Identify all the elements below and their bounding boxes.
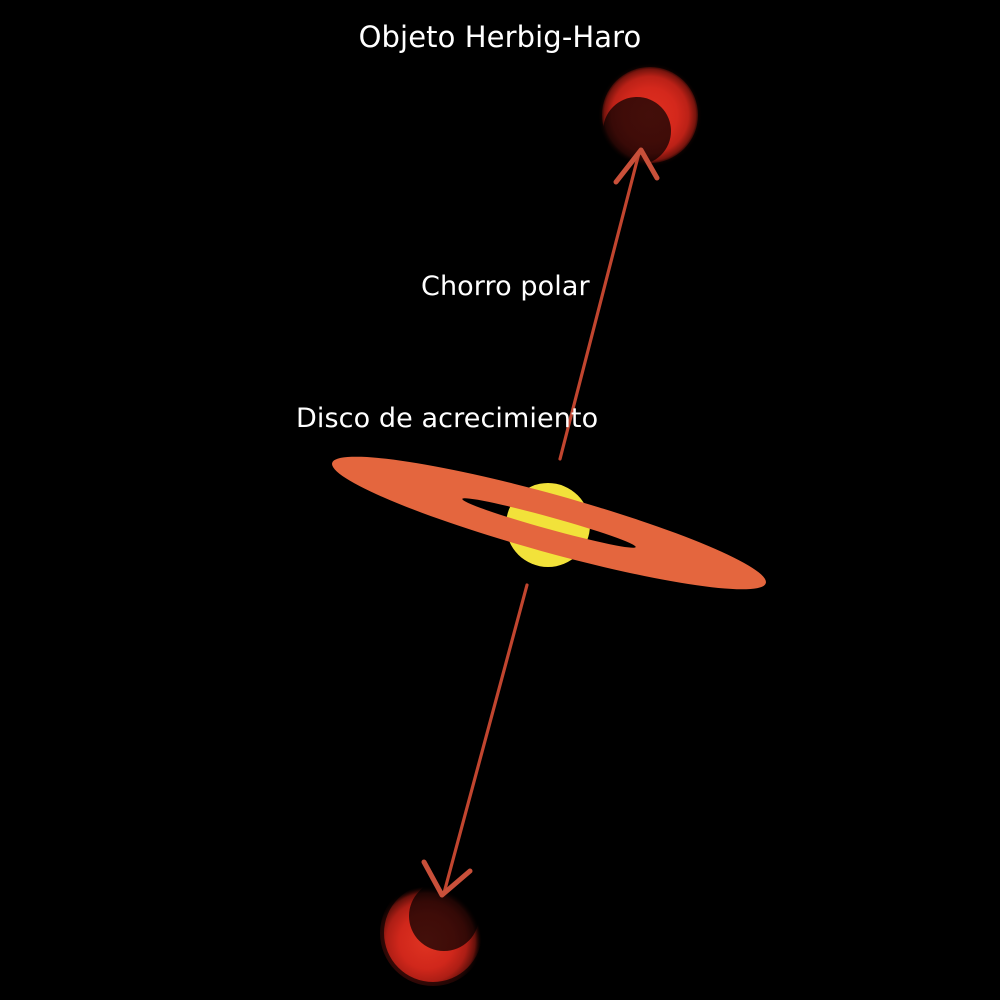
herbig-haro-object-upper: [598, 63, 702, 167]
diagram-canvas: Objeto Herbig-Haro Chorro polar Disco de…: [0, 0, 1000, 1000]
polar-jet-lower: [424, 585, 527, 895]
page-title: Objeto Herbig-Haro: [0, 20, 1000, 54]
polar-jet-label: Chorro polar: [421, 271, 590, 302]
accretion-disk: [300, 430, 800, 620]
shock-crescent-upper-icon: [598, 63, 702, 167]
shock-crescent-lower-icon: [380, 880, 486, 986]
accretion-disk-label: Disco de acrecimiento: [296, 403, 598, 434]
jet-line-lower: [444, 585, 527, 893]
herbig-haro-object-lower: [380, 880, 486, 986]
herbig-haro-diagram-svg: [0, 0, 1000, 1000]
